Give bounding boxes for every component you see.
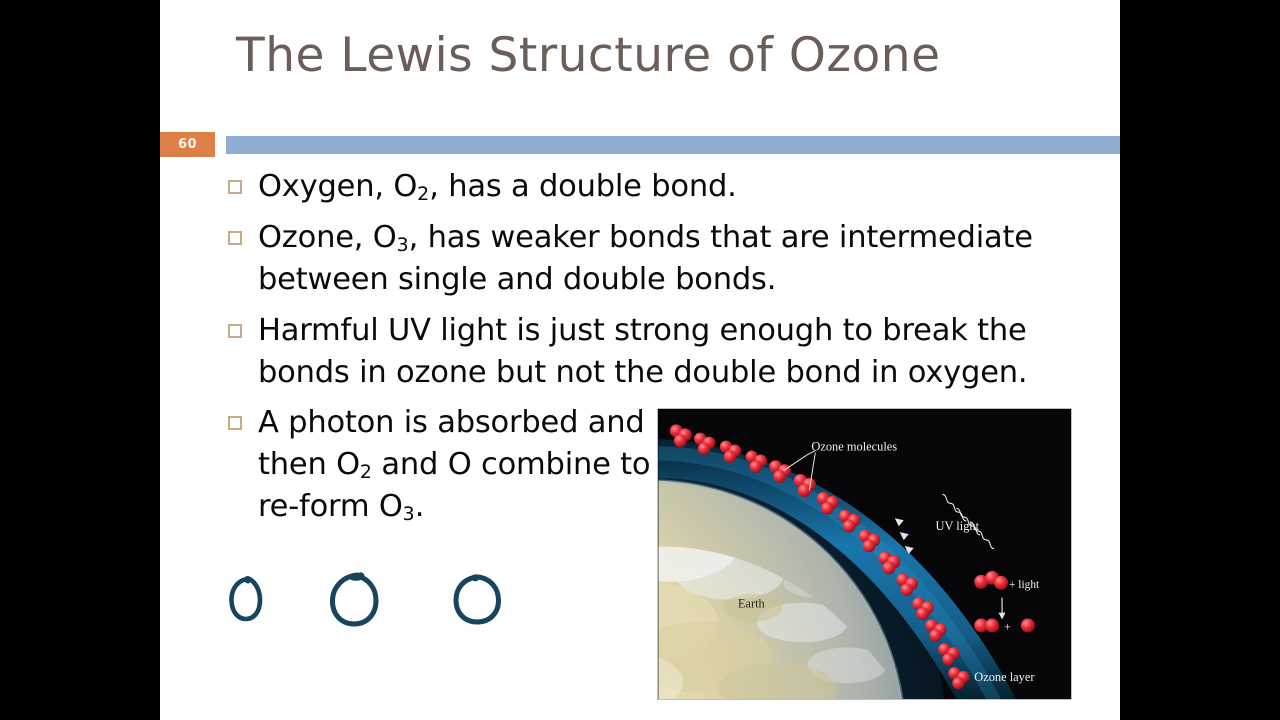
list-item: Ozone, O3, has weaker bonds that are int… bbox=[228, 217, 1098, 301]
bullet-oxygen: Oxygen, O2, has a double bond. bbox=[258, 166, 1098, 208]
label-ozone-molecules: Ozone molecules bbox=[811, 440, 897, 454]
square-bullet-icon bbox=[228, 324, 242, 338]
slide-canvas: The Lewis Structure of Ozone 60 Oxygen, … bbox=[160, 0, 1120, 720]
bullet-ozone: Ozone, O3, has weaker bonds that are int… bbox=[258, 217, 1098, 301]
header-rule bbox=[226, 136, 1120, 154]
subscript: 2 bbox=[360, 461, 372, 483]
list-item: Harmful UV light is just strong enough t… bbox=[228, 310, 1098, 394]
oxygen-atom bbox=[1021, 619, 1035, 633]
square-bullet-icon bbox=[228, 180, 242, 194]
screen: The Lewis Structure of Ozone 60 Oxygen, … bbox=[0, 0, 1280, 720]
label-plus-light: + light bbox=[1009, 579, 1040, 591]
label-reaction-plus: + bbox=[1004, 619, 1011, 633]
page-title: The Lewis Structure of Ozone bbox=[236, 28, 1096, 83]
letterbox-right bbox=[1120, 0, 1280, 720]
ink-circle-2 bbox=[332, 575, 376, 624]
label-uv-light: UV light bbox=[936, 519, 980, 533]
slide-number-badge: 60 bbox=[160, 132, 215, 157]
ozone-layer-image: Ozone molecules UV light bbox=[657, 408, 1072, 700]
ink-annotation-layer bbox=[215, 565, 555, 645]
list-item: Oxygen, O2, has a double bond. bbox=[228, 166, 1098, 208]
bullet-uv: Harmful UV light is just strong enough t… bbox=[258, 310, 1098, 394]
letterbox-left bbox=[0, 0, 160, 720]
label-ozone-layer: Ozone layer bbox=[974, 670, 1035, 684]
subscript: 2 bbox=[417, 183, 429, 205]
ink-circle-3 bbox=[456, 577, 499, 622]
square-bullet-icon bbox=[228, 231, 242, 245]
subscript: 3 bbox=[397, 234, 409, 256]
subscript: 3 bbox=[403, 503, 415, 525]
bullet-photon: A photon is absorbed and then O2 and O c… bbox=[258, 402, 653, 528]
square-bullet-icon bbox=[228, 416, 242, 430]
ink-circle-1 bbox=[231, 578, 260, 619]
label-earth: Earth bbox=[738, 597, 766, 611]
